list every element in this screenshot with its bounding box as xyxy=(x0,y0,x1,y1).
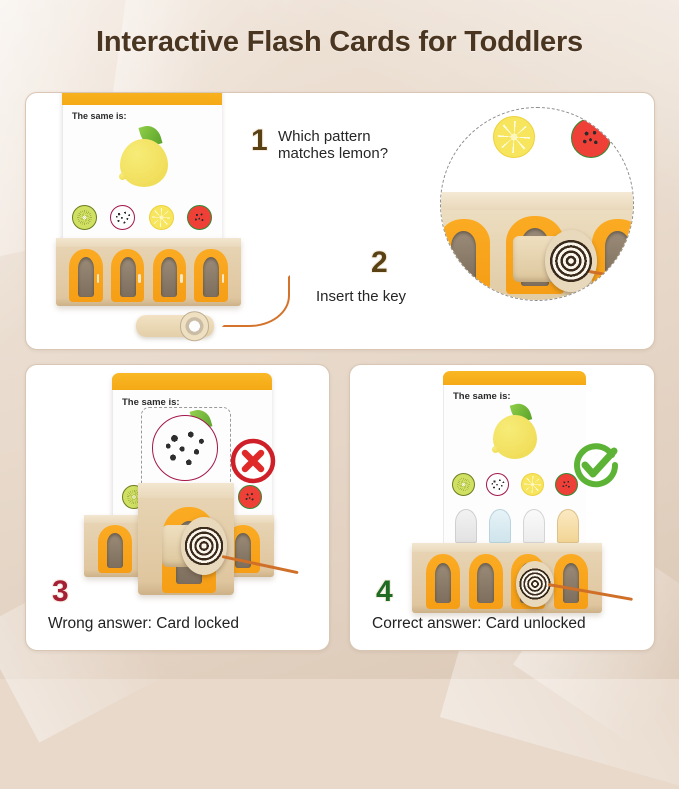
step-text-1: Which pattern matches lemon? xyxy=(278,128,438,162)
slot-pin xyxy=(78,257,94,296)
base-top-face xyxy=(412,543,602,552)
arch-slot[interactable] xyxy=(111,249,144,302)
fruit-option-lemon[interactable] xyxy=(149,205,174,230)
base-top-face xyxy=(138,483,234,498)
slot-pin xyxy=(161,257,177,296)
step-number-3: 3 xyxy=(52,577,69,607)
inset-arch-slot xyxy=(440,219,490,289)
correct-answer-check-icon xyxy=(568,437,624,493)
panel-step-3-wrong: The same is: xyxy=(25,364,330,651)
arch-slot[interactable] xyxy=(69,249,102,302)
inset-fruit-lemon xyxy=(493,116,535,158)
slot-pin xyxy=(107,533,123,569)
flash-card[interactable]: The same is: xyxy=(62,92,222,255)
card-top-tab xyxy=(112,373,272,390)
slot-nub xyxy=(180,274,183,282)
slot-pin xyxy=(435,563,451,603)
slot-pin xyxy=(477,563,493,603)
fruit-option-lemon[interactable] xyxy=(521,473,544,496)
slot-pin xyxy=(563,563,579,603)
lemon-illustration xyxy=(493,403,537,459)
caption-wrong: Wrong answer: Card locked xyxy=(48,615,239,633)
inset-wood-top xyxy=(441,192,633,209)
wooden-key[interactable] xyxy=(136,315,214,337)
revealed-arch xyxy=(455,509,477,543)
caption-correct: Correct answer: Card unlocked xyxy=(372,615,586,633)
magnified-fruit-dragon xyxy=(152,415,218,481)
step-number-4: 4 xyxy=(376,577,393,607)
inset-fruit-watermelon xyxy=(571,118,611,158)
slot-pin xyxy=(120,257,136,296)
card-prompt-label: The same is: xyxy=(453,391,511,402)
fruit-option-dragon[interactable] xyxy=(486,473,509,496)
card-prompt-label: The same is: xyxy=(72,111,127,121)
slot-pin xyxy=(451,231,476,283)
wooden-base xyxy=(56,238,241,306)
fruit-option-watermelon[interactable] xyxy=(238,485,262,509)
slot-nub xyxy=(138,274,141,282)
slot-nub xyxy=(97,274,100,282)
fruit-option-kiwi[interactable] xyxy=(452,473,475,496)
arch-slot[interactable] xyxy=(153,249,186,302)
card-top-tab xyxy=(443,371,586,385)
slot-row xyxy=(65,249,232,302)
step-number-1: 1 xyxy=(251,126,268,156)
slot-row xyxy=(422,554,593,609)
zoom-detail-inset xyxy=(440,107,634,301)
flash-card[interactable]: The same is: xyxy=(443,371,586,547)
arch-slot[interactable] xyxy=(469,554,503,609)
lemon-body xyxy=(493,415,537,459)
card-top-tab xyxy=(62,92,222,105)
lemon-body xyxy=(120,139,168,187)
key-cord xyxy=(222,275,290,327)
revealed-arch xyxy=(557,509,579,543)
revealed-arch xyxy=(489,509,511,543)
wooden-base xyxy=(412,543,602,613)
revealed-arch xyxy=(523,509,545,543)
fruit-option-dragon[interactable] xyxy=(110,205,135,230)
wrong-answer-x-icon xyxy=(229,437,277,485)
inset-bullseye-knob xyxy=(545,230,597,292)
base-top-face xyxy=(56,238,241,247)
lemon-illustration xyxy=(120,125,168,187)
page-title: Interactive Flash Cards for Toddlers xyxy=(0,26,679,59)
step-number-2: 2 xyxy=(371,248,388,278)
fruit-option-row xyxy=(72,205,212,230)
card-spine xyxy=(62,92,63,255)
arch-slot[interactable] xyxy=(98,525,132,573)
fruit-option-row xyxy=(452,473,578,496)
key-ring xyxy=(180,311,210,341)
card-spine xyxy=(112,373,113,533)
fruit-option-watermelon[interactable] xyxy=(187,205,212,230)
fruit-option-kiwi[interactable] xyxy=(72,205,97,230)
slot-pin xyxy=(203,257,219,296)
panel-step-4-correct: The same is: xyxy=(349,364,655,651)
card-spine xyxy=(443,371,444,547)
bullseye-knob xyxy=(181,517,227,575)
arch-slot[interactable] xyxy=(426,554,460,609)
arch-slot[interactable] xyxy=(554,554,588,609)
revealed-arch-row xyxy=(455,509,579,543)
